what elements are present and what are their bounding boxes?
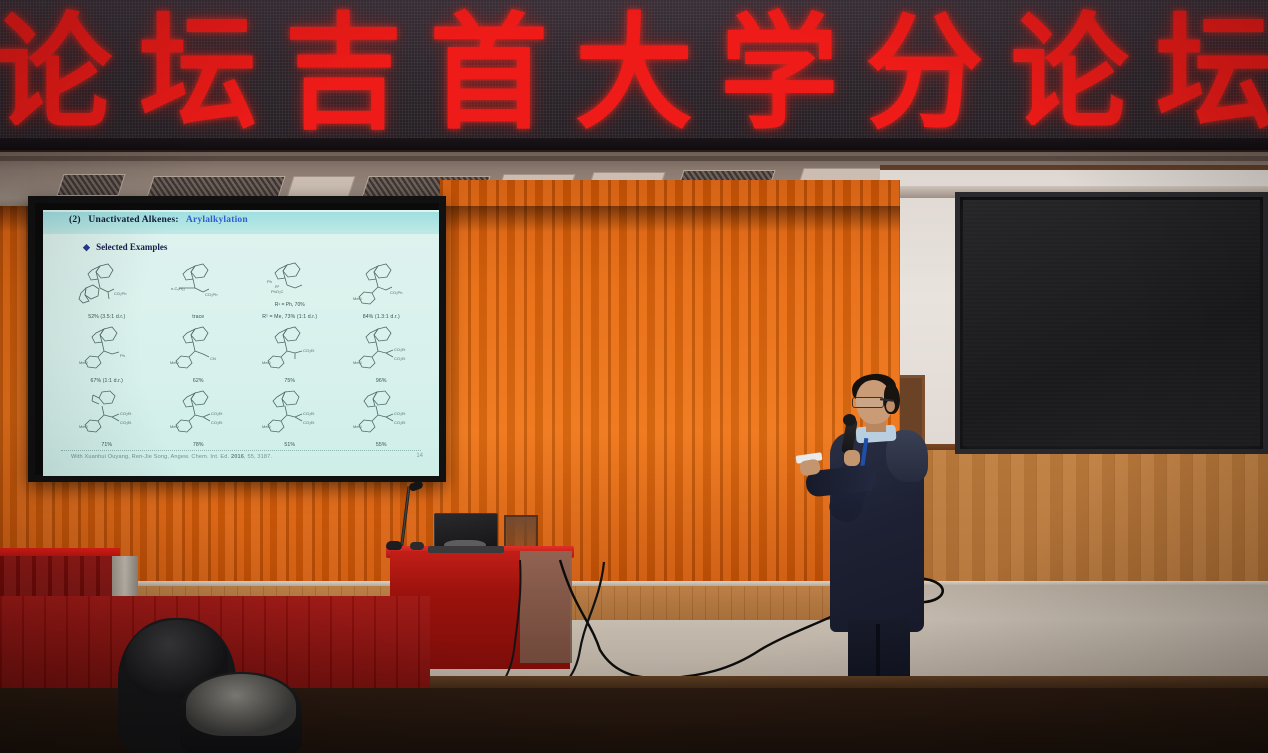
svg-text:MeO: MeO <box>262 424 271 429</box>
citation-tail: , 55, 3187. <box>244 454 272 460</box>
svg-text:CO₂Et: CO₂Et <box>394 347 406 352</box>
projection-screen: (2) Unactivated Alkenes: Arylalkylation … <box>28 196 446 482</box>
structure-cell: MeO CO₂Et 75% <box>244 322 336 384</box>
led-banner: 论 坛 吉 首 大 学 分 论 坛 <box>0 0 1268 150</box>
led-char: 学 <box>720 10 838 135</box>
structure-subnote: R¹ = Ph, 70% <box>244 302 336 308</box>
svg-text:CO₂Ph: CO₂Ph <box>390 290 402 295</box>
structure-yield: 51% <box>244 442 336 448</box>
svg-text:CO₂Ph: CO₂Ph <box>205 292 217 297</box>
presenter-leg-gap <box>876 624 880 684</box>
structure-cell: MeO CO₂Ph 84% (1.3:1 d.r.) <box>336 258 428 320</box>
diamond-bullet-icon: ◆ <box>83 242 90 252</box>
svg-text:CN: CN <box>210 356 216 361</box>
svg-text:MeO: MeO <box>170 424 179 429</box>
structure-yield: 78% <box>153 442 245 448</box>
structure-yield: 52% (3.5:1 d.r.) <box>61 314 153 320</box>
structure-yield: 84% (1.3:1 d.r.) <box>336 314 428 320</box>
structure-cell: MeO CO₂Et CO₂Et 71% <box>61 386 153 448</box>
ceiling-vent-icon <box>56 174 125 196</box>
structure-yield: 96% <box>336 378 428 384</box>
structure-yield: trace <box>153 314 245 320</box>
svg-text:CO₂Et: CO₂Et <box>120 420 132 425</box>
microphone-head-icon <box>843 414 856 426</box>
svg-text:MeO: MeO <box>79 424 88 429</box>
svg-text:MeO: MeO <box>353 296 362 301</box>
svg-text:CO₂Et: CO₂Et <box>120 411 132 416</box>
molecule-icon: CO₂Ph <box>78 262 136 304</box>
structure-cell: MeO CO₂Et CO₂Et 96% <box>336 322 428 384</box>
molecule-icon: MeO CN <box>169 326 227 370</box>
svg-text:MeO: MeO <box>170 360 179 365</box>
svg-text:CO₂Et: CO₂Et <box>303 348 315 353</box>
structure-yield: 55% <box>336 442 428 448</box>
svg-text:CO₂Et: CO₂Et <box>211 411 223 416</box>
structure-yield: 71% <box>61 442 153 448</box>
led-banner-edge <box>0 138 1268 150</box>
svg-text:Ph: Ph <box>267 279 272 284</box>
structure-yield: 67% (1:1 d.r.) <box>61 378 153 384</box>
svg-text:CO₂Et: CO₂Et <box>394 420 406 425</box>
structure-cell: MeO CO₂Et CO₂Et 51% <box>244 386 336 448</box>
led-banner-text: 论 坛 吉 首 大 学 分 论 坛 <box>0 4 1268 142</box>
molecule-icon: MeO CO₂Et CO₂Et <box>78 390 136 434</box>
led-char: 大 <box>575 10 693 135</box>
molecule-icon: n-C₆H₁₃ CO₂Ph <box>169 262 227 304</box>
citation-year: 2016 <box>231 454 244 460</box>
structure-cell: Ph R¹ PhO₂C R¹ = Ph, 70% R¹ = Me, 73% (1… <box>244 258 336 320</box>
wall-mounted-dark-board <box>955 192 1268 454</box>
led-char: 吉 <box>284 10 402 135</box>
slide-title-main: Unactivated Alkenes: <box>88 215 178 225</box>
svg-text:MeO: MeO <box>262 360 271 365</box>
ceiling-panel <box>286 176 355 198</box>
molecule-icon: MeO CO₂Ph <box>352 262 410 306</box>
structure-cell: MeO CO₂Et CO₂Et 78% <box>153 386 245 448</box>
led-char: 首 <box>430 10 548 135</box>
molecule-icon: MeO CO₂Et CO₂Et <box>352 326 410 370</box>
structure-grid: CO₂Ph 52% (3.5:1 d.r.) n-C₆H₁₃ <box>61 258 427 448</box>
svg-text:Ph: Ph <box>120 353 125 358</box>
slide-bullet-text: Selected Examples <box>96 242 167 252</box>
board-surface <box>963 200 1260 446</box>
slide-title: (2) Unactivated Alkenes: Arylalkylation <box>69 215 248 225</box>
slide-title-accent: Arylalkylation <box>186 215 248 225</box>
molecule-icon: MeO CO₂Et CO₂Et <box>261 390 319 434</box>
svg-text:CO₂Et: CO₂Et <box>303 411 315 416</box>
ceiling-rail <box>0 156 1268 161</box>
ceiling-vent-icon <box>146 176 285 198</box>
svg-text:CO₂Et: CO₂Et <box>394 356 406 361</box>
structure-yield: R¹ = Me, 73% (1:1 d.r.) <box>244 314 336 320</box>
led-char: 坛 <box>139 10 257 135</box>
slide-citation: With Xuanhui Ouyang, Ren-Jie Song, Angew… <box>71 454 272 460</box>
slide-surface: (2) Unactivated Alkenes: Arylalkylation … <box>43 210 439 476</box>
led-char: 论 <box>1011 10 1129 135</box>
lecture-hall-scene: 论 坛 吉 首 大 学 分 论 坛 <box>0 0 1268 753</box>
molecule-icon: MeO CO₂Et CO₂Et <box>169 390 227 434</box>
structure-cell: MeO CN 62% <box>153 322 245 384</box>
molecule-icon: MeO CO₂Et <box>261 326 319 370</box>
svg-text:CO₂Et: CO₂Et <box>211 420 223 425</box>
audience-hair <box>186 674 296 736</box>
svg-text:CO₂Ph: CO₂Ph <box>114 291 126 296</box>
structure-row: MeO Ph 67% (1:1 d.r.) <box>61 322 427 384</box>
slide-page-number: 14 <box>416 453 423 459</box>
presenter-ear <box>886 400 895 412</box>
structure-yield: 75% <box>244 378 336 384</box>
structure-cell: MeO CO₂Et CO₂Et 55% <box>336 386 428 448</box>
slide-bullet: ◆ Selected Examples <box>83 242 167 253</box>
structure-cell: n-C₆H₁₃ CO₂Ph trace <box>153 258 245 320</box>
presenter-hand-holding-mic <box>844 450 860 466</box>
svg-text:CO₂Et: CO₂Et <box>394 411 406 416</box>
citation-divider <box>61 450 421 451</box>
structure-yield: 62% <box>153 378 245 384</box>
svg-text:PhO₂C: PhO₂C <box>271 289 284 294</box>
citation-text: With Xuanhui Ouyang, Ren-Jie Song, Angew… <box>71 454 231 460</box>
svg-text:CO₂Et: CO₂Et <box>303 420 315 425</box>
structure-cell: CO₂Ph 52% (3.5:1 d.r.) <box>61 258 153 320</box>
svg-text:MeO: MeO <box>353 360 362 365</box>
structure-cell: MeO Ph 67% (1:1 d.r.) <box>61 322 153 384</box>
structure-row: CO₂Ph 52% (3.5:1 d.r.) n-C₆H₁₃ <box>61 258 427 320</box>
led-char: 坛 <box>1156 10 1268 135</box>
svg-text:n-C₆H₁₃: n-C₆H₁₃ <box>171 286 185 291</box>
svg-text:MeO: MeO <box>79 360 88 365</box>
molecule-icon: MeO Ph <box>78 326 136 370</box>
led-char: 论 <box>0 10 112 135</box>
molecule-icon: Ph R¹ PhO₂C <box>261 262 319 294</box>
svg-text:MeO: MeO <box>353 424 362 429</box>
slide-title-number: (2) <box>69 215 81 225</box>
led-char: 分 <box>865 10 983 135</box>
structure-row: MeO CO₂Et CO₂Et 71% <box>61 386 427 448</box>
molecule-icon: MeO CO₂Et CO₂Et <box>352 390 410 434</box>
presenter <box>800 372 960 692</box>
